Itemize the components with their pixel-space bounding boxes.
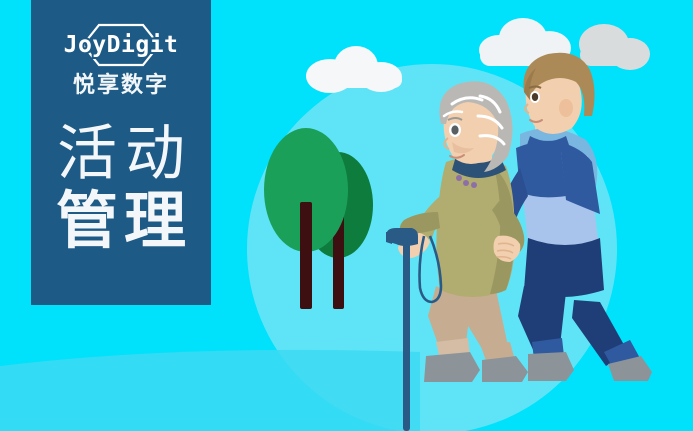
- joydigit-logo-icon: JoyDigit: [41, 22, 201, 68]
- cane-handle-tip: [386, 232, 392, 244]
- man-ear: [559, 99, 573, 117]
- woman-bead-3: [471, 182, 477, 188]
- man-hips: [524, 238, 604, 297]
- logo-block: JoyDigit: [41, 22, 201, 68]
- woman-eye-pupil: [451, 125, 458, 134]
- brand-name-cn: 悦享数字: [73, 74, 169, 98]
- woman-bead-2: [463, 180, 469, 186]
- cloud-right-icon: [579, 24, 650, 70]
- title-line-1: 活动: [31, 124, 211, 184]
- man-front-shoe: [528, 352, 574, 381]
- brand-panel: JoyDigit 悦享数字 活动 管理: [31, 0, 211, 305]
- woman-front-shoe: [424, 352, 480, 382]
- poster-canvas: JoyDigit 悦享数字 活动 管理: [0, 0, 693, 431]
- title-line-2: 管理: [31, 190, 211, 252]
- elderly-woman-figure: [398, 81, 528, 382]
- cloud-left-icon: [306, 46, 402, 93]
- woman-bead-1: [456, 175, 462, 181]
- cane-shaft: [403, 240, 410, 431]
- man-eye-pupil: [532, 93, 538, 101]
- walking-cane-icon: [386, 228, 441, 431]
- poster-title: 活动 管理: [31, 124, 211, 252]
- woman-back-shoe: [482, 356, 528, 382]
- logo-wordmark: JoyDigit: [64, 32, 179, 58]
